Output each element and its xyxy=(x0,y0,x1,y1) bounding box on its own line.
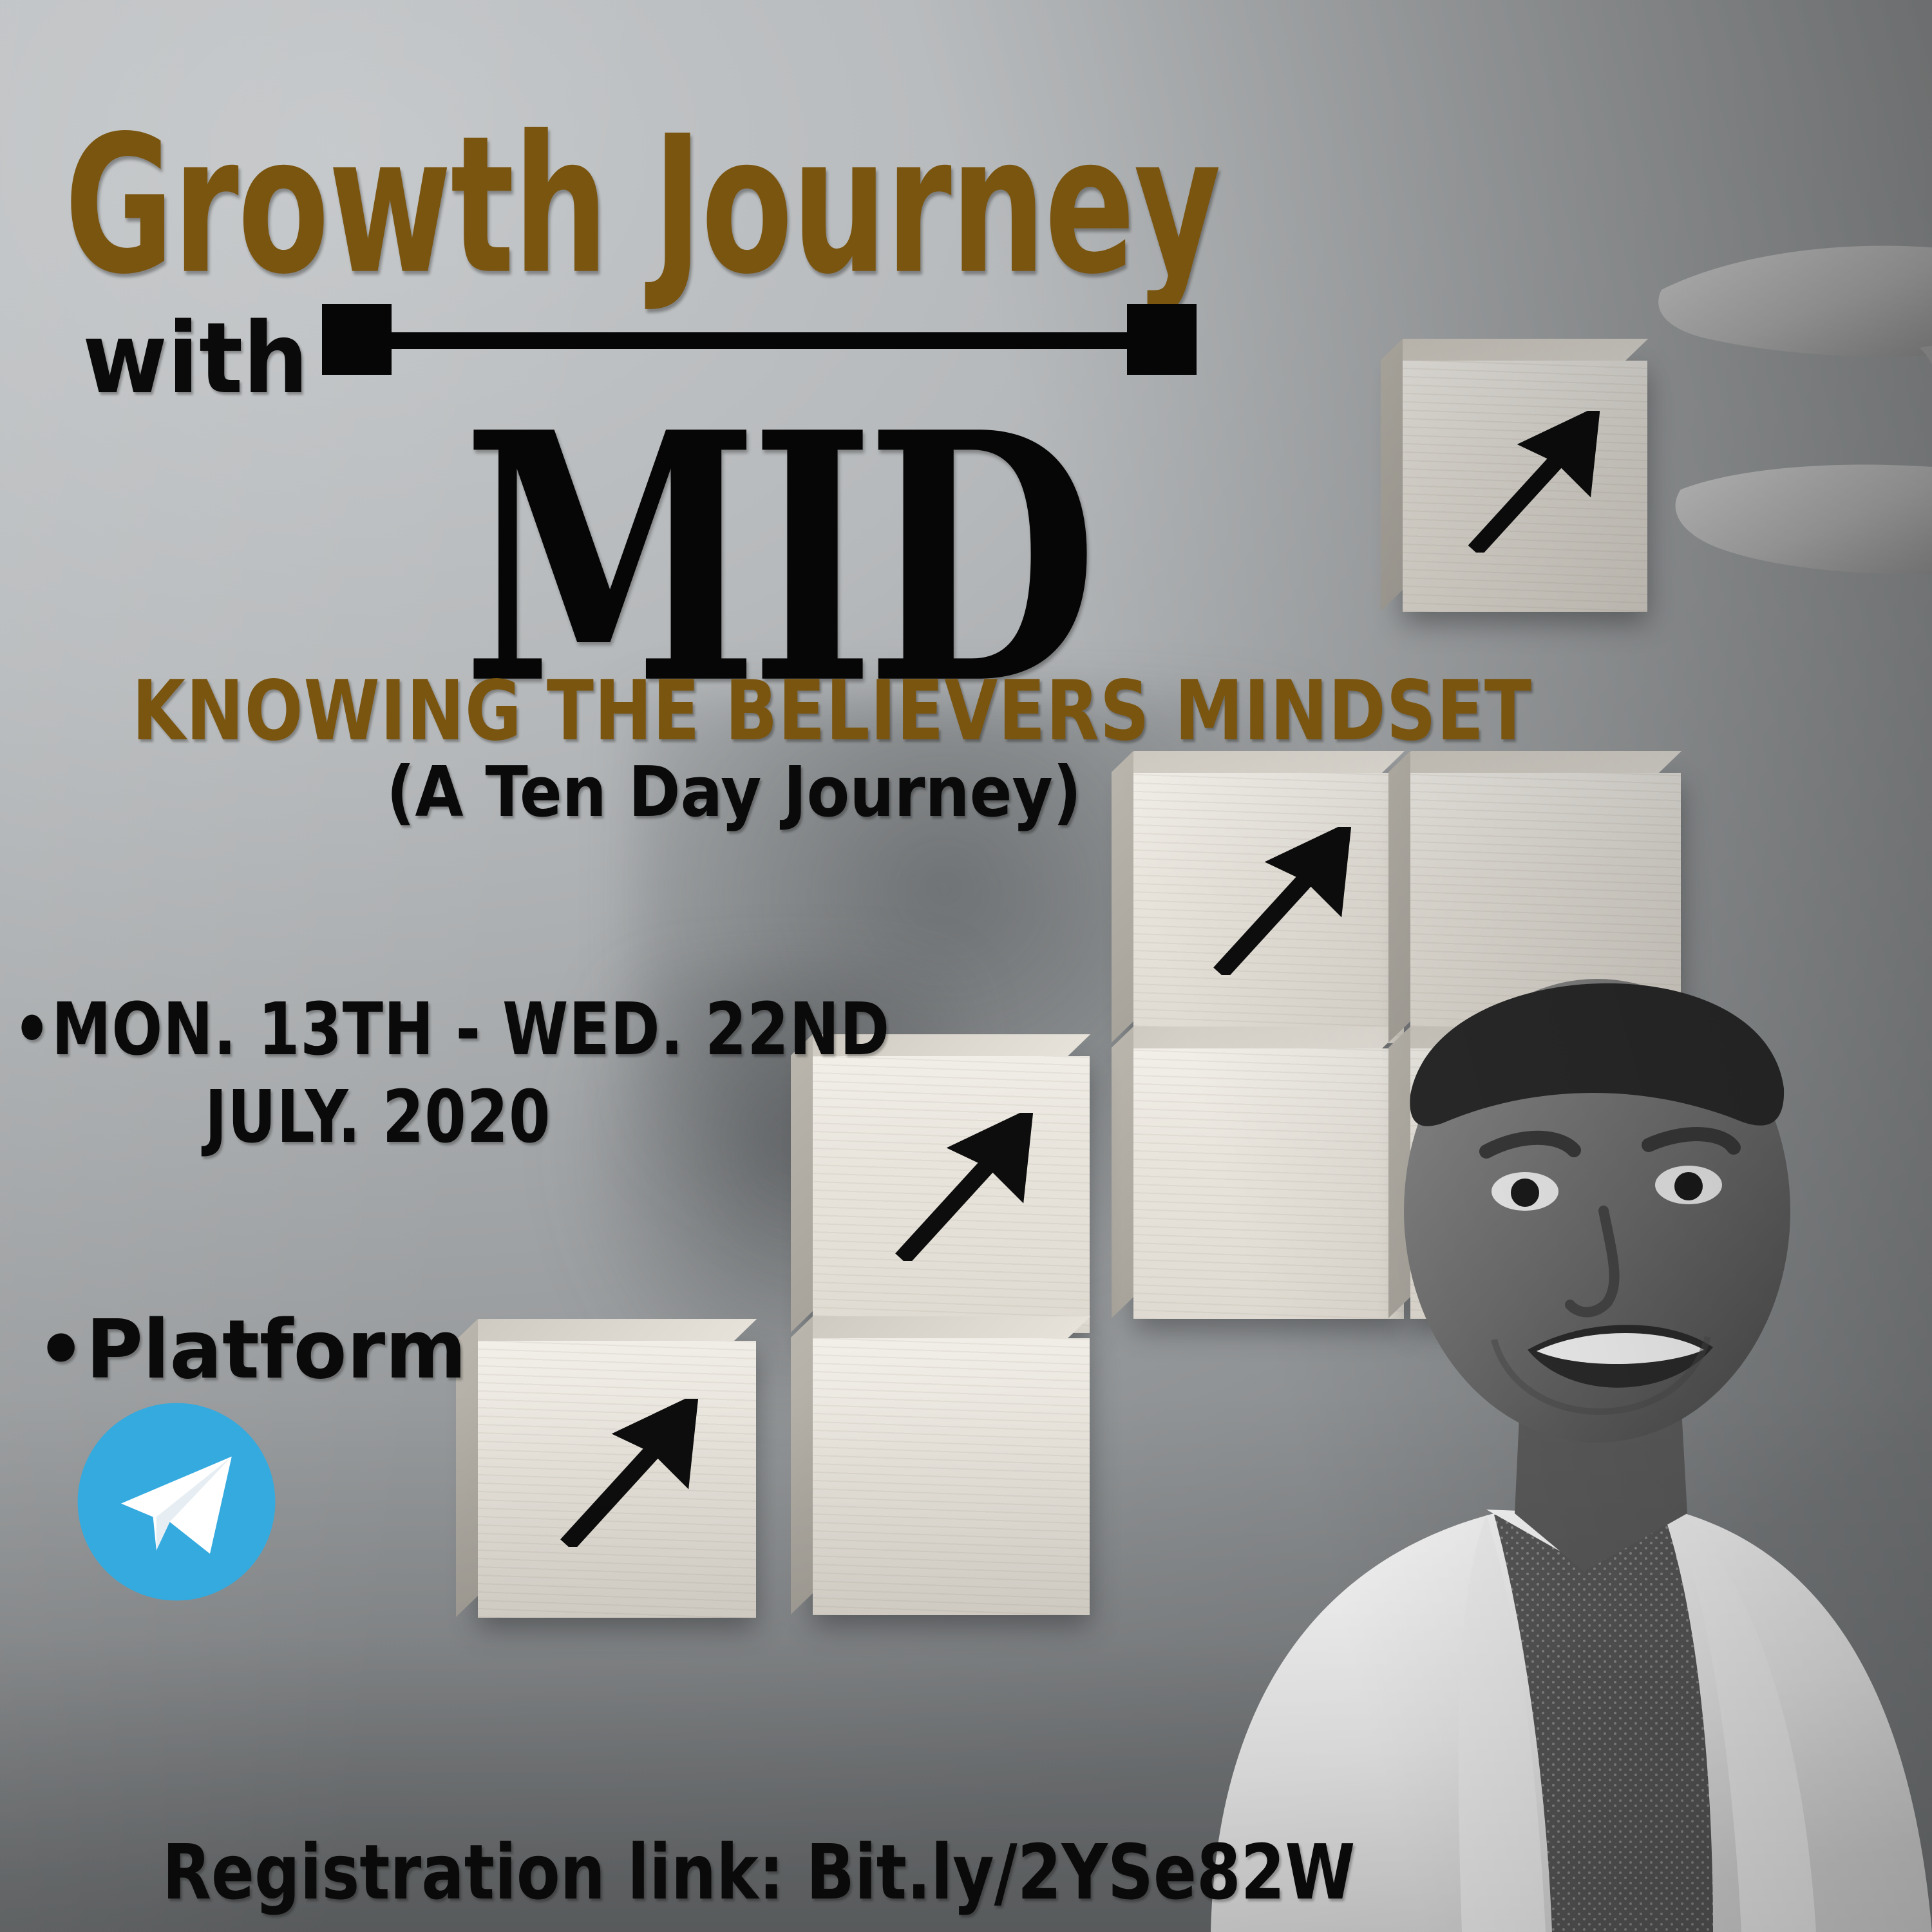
platform-label: •Platform xyxy=(36,1302,466,1397)
event-date-range: •MON. 13TH - WED. 22ND xyxy=(13,988,890,1072)
subtitle-parenthetical: (A Ten Day Journey) xyxy=(386,752,1081,833)
event-date-month-year: JULY. 2020 xyxy=(205,1075,551,1159)
barbell-bar xyxy=(385,332,1133,349)
poster-canvas: Growth Journey with MID KNOWING THE BELI… xyxy=(0,0,1932,1932)
barbell-plate-right xyxy=(1127,304,1197,375)
telegram-icon[interactable] xyxy=(76,1401,277,1602)
subtitle: KNOWING THE BELIEVERS MINDSET xyxy=(132,663,1532,759)
title-with-label: with xyxy=(82,301,308,415)
page-title: Growth Journey xyxy=(64,95,1220,316)
barbell-plate-left xyxy=(322,304,392,375)
registration-link[interactable]: Registration link: Bit.ly/2YSe82W xyxy=(162,1828,1355,1917)
